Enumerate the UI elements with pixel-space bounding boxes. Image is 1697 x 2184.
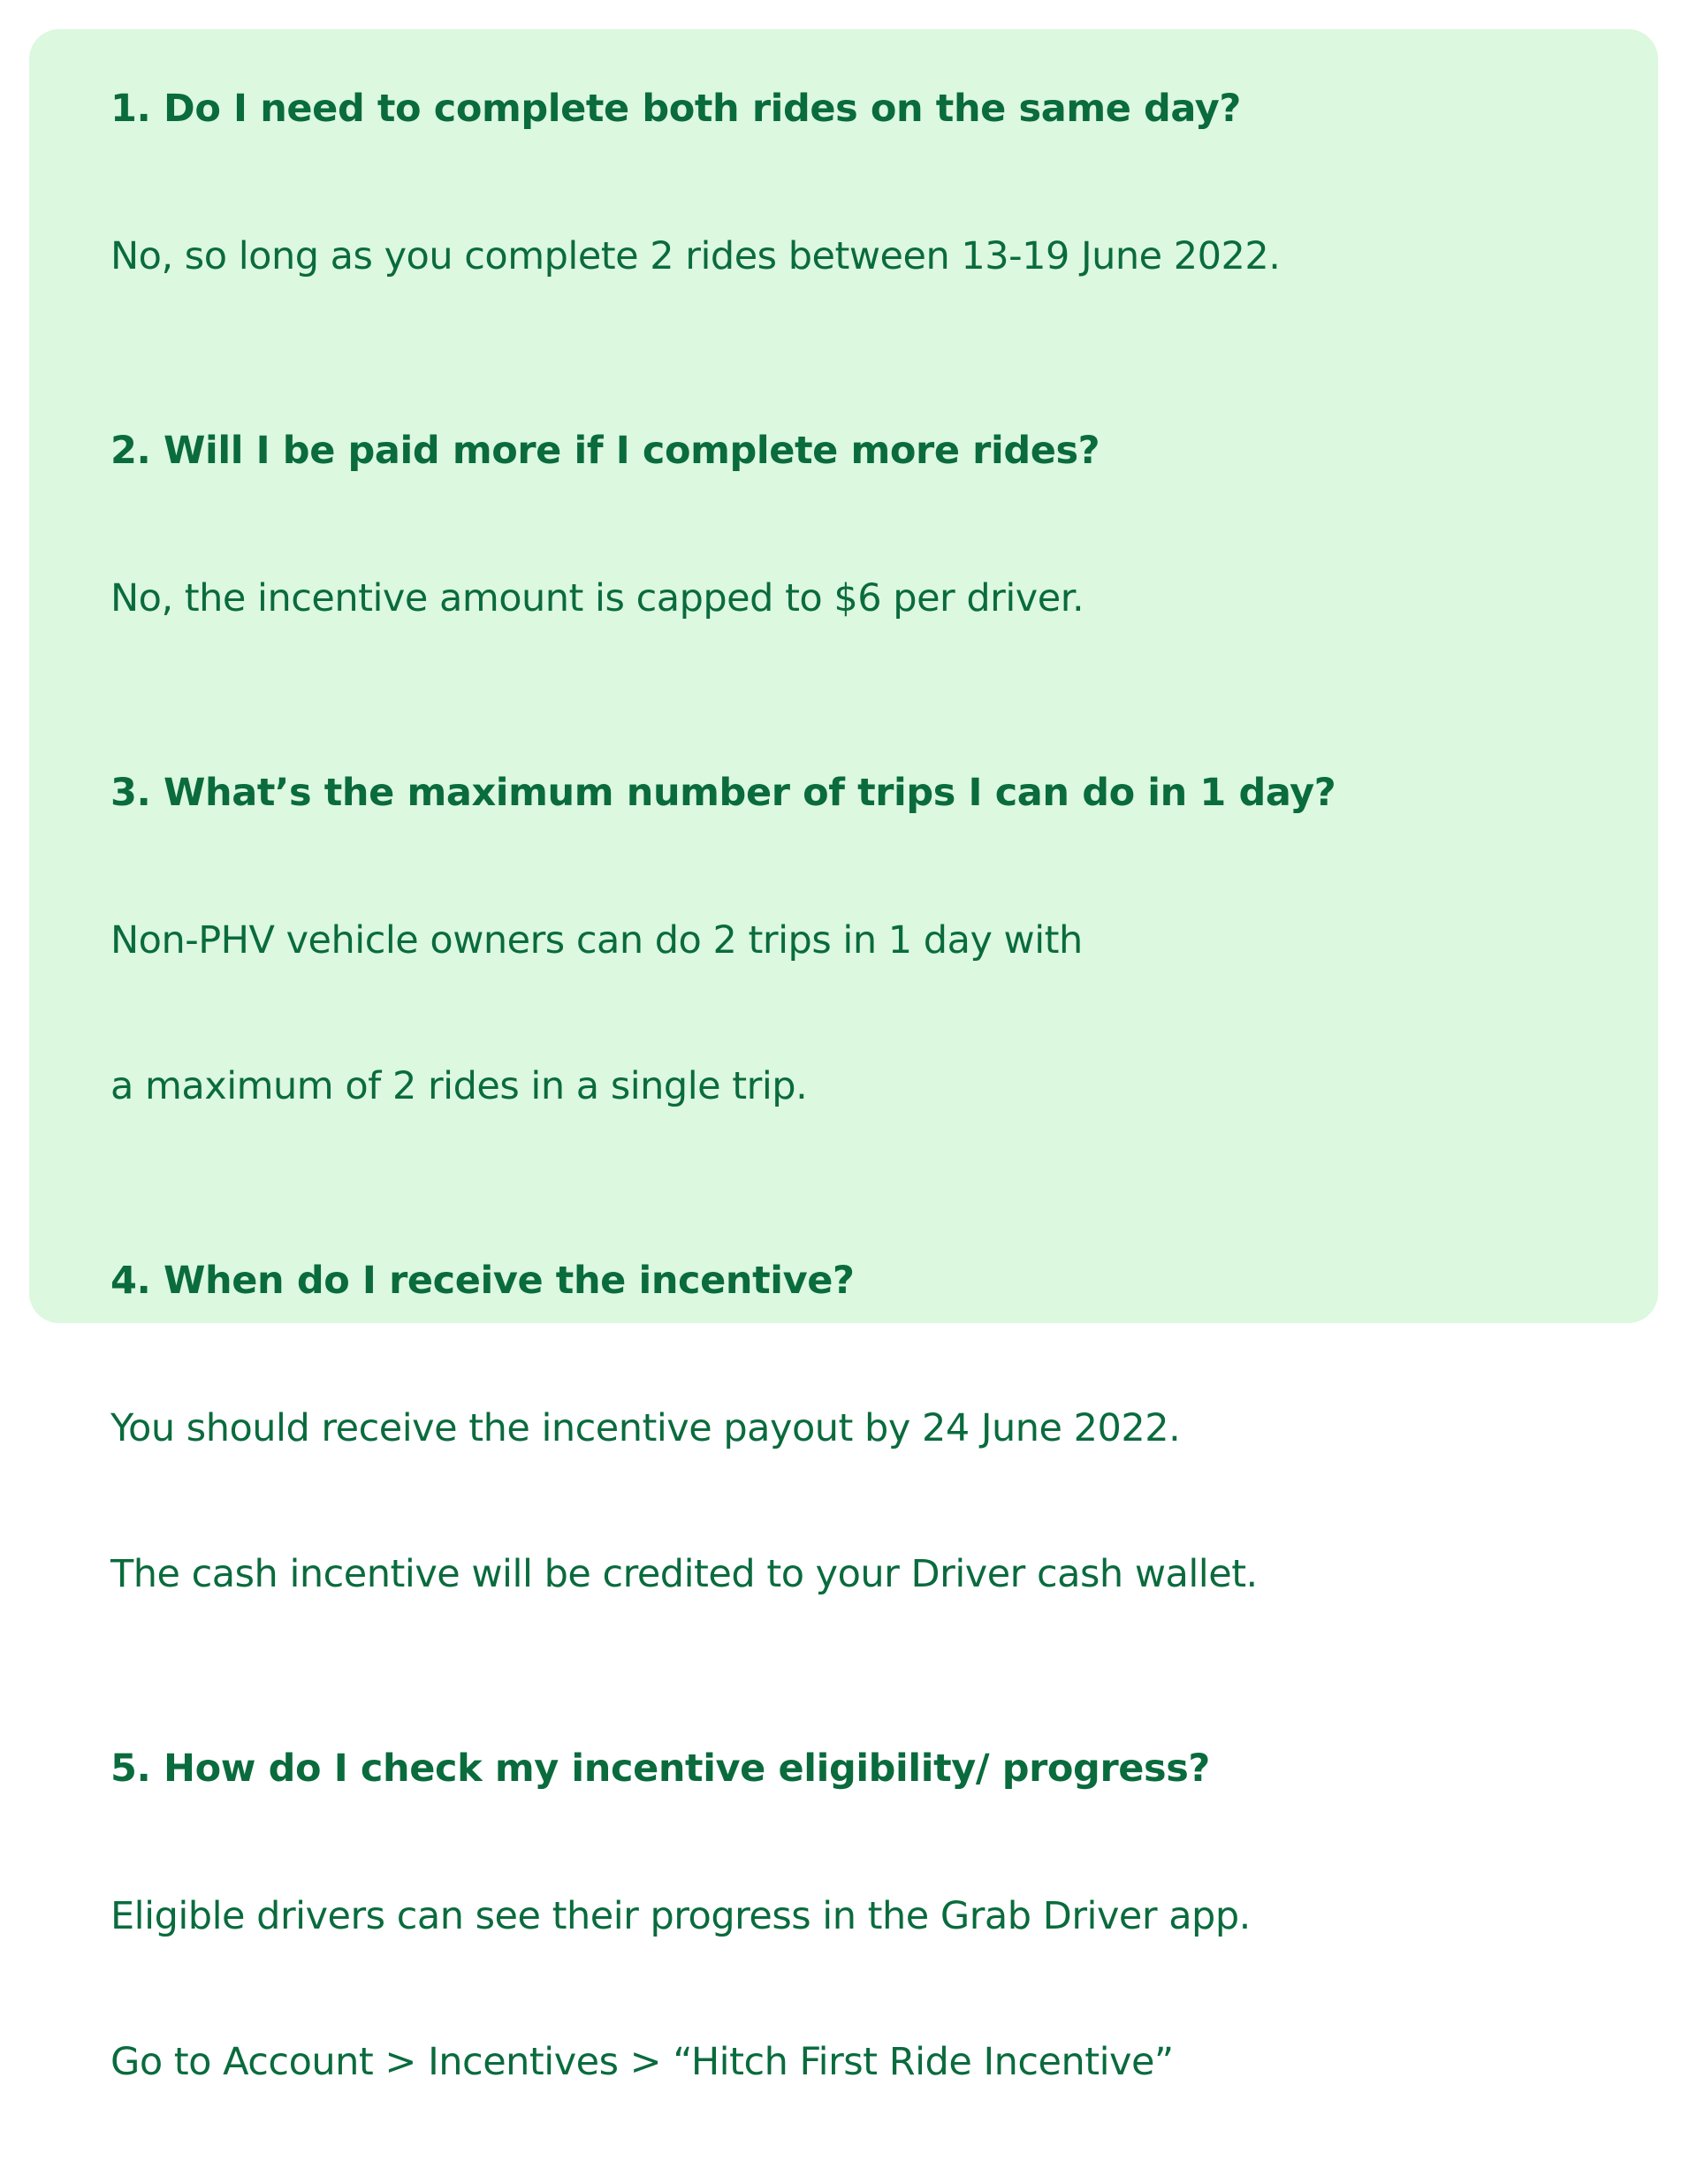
faq-question: 5. How do I check my incentive eligibili… — [110, 1744, 1596, 1793]
faq-item: 4. When do I receive the incentive? You … — [110, 1256, 1596, 1696]
faq-answer: Eligible drivers can see their progress … — [110, 1795, 1596, 2184]
faq-answer: You should receive the incentive payout … — [110, 1307, 1596, 1696]
faq-answer-line: You should receive the incentive payout … — [110, 1404, 1596, 1453]
faq-item: 5. How do I check my incentive eligibili… — [110, 1744, 1596, 2184]
faq-item: 2. Will I be paid more if I complete mor… — [110, 426, 1596, 720]
faq-question: 3. What’s the maximum number of trips I … — [110, 768, 1596, 818]
faq-answer-line: No, the incentive amount is capped to $6… — [110, 575, 1596, 623]
faq-answer-line: Go to Account > Incentives > “Hitch Firs… — [110, 2038, 1596, 2087]
faq-answer-line: Eligible drivers can see their progress … — [110, 1892, 1596, 1941]
faq-answer-line: Non-PHV vehicle owners can do 2 trips in… — [110, 917, 1596, 965]
faq-answer: Non-PHV vehicle owners can do 2 trips in… — [110, 819, 1596, 1208]
faq-question: 4. When do I receive the incentive? — [110, 1256, 1596, 1305]
page-root: 1. Do I need to complete both rides on t… — [0, 0, 1697, 1354]
faq-item: 1. Do I need to complete both rides on t… — [110, 84, 1596, 378]
faq-answer: No, the incentive amount is capped to $6… — [110, 477, 1596, 720]
faq-item: 3. What’s the maximum number of trips I … — [110, 768, 1596, 1208]
faq-list: 1. Do I need to complete both rides on t… — [110, 84, 1596, 2184]
faq-answer-line: The cash incentive will be credited to y… — [110, 1550, 1596, 1599]
faq-question: 2. Will I be paid more if I complete mor… — [110, 426, 1596, 476]
faq-answer-line: a maximum of 2 rides in a single trip. — [110, 1062, 1596, 1111]
faq-question: 1. Do I need to complete both rides on t… — [110, 84, 1596, 133]
faq-answer: No, so long as you complete 2 rides betw… — [110, 135, 1596, 378]
faq-answer-line: No, so long as you complete 2 rides betw… — [110, 232, 1596, 281]
faq-card: 1. Do I need to complete both rides on t… — [29, 29, 1658, 1323]
